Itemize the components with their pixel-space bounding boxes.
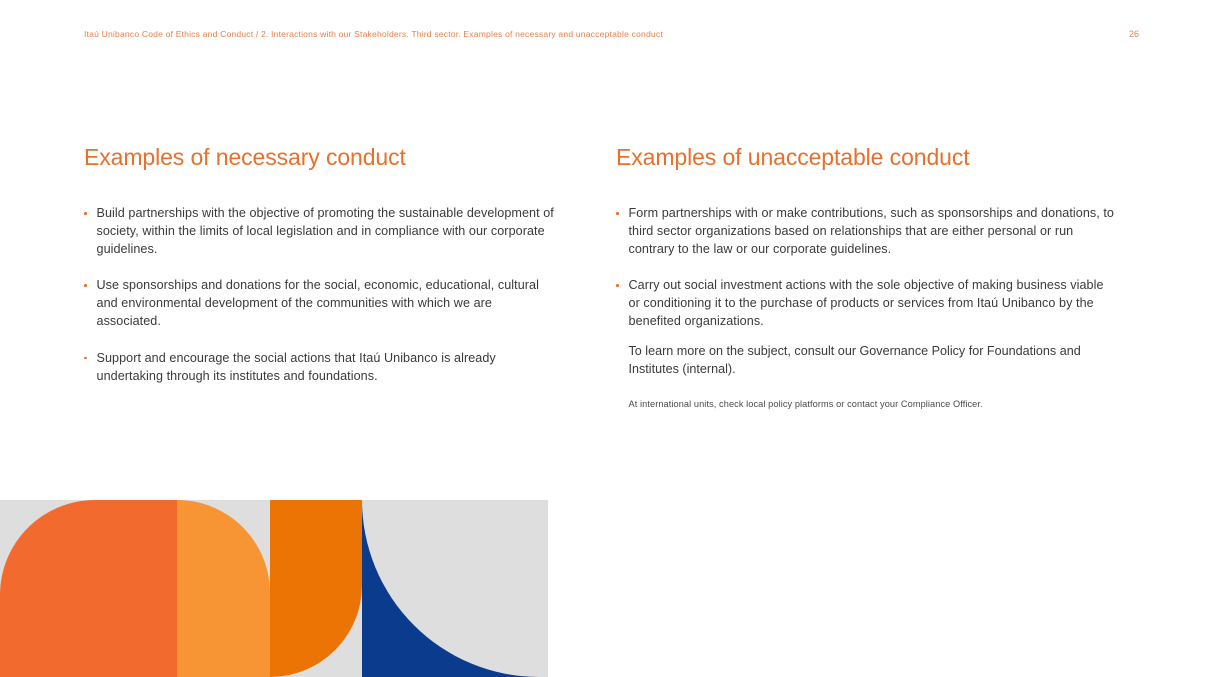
bullet-dot-icon [616, 212, 619, 215]
footnote: At international units, check local poli… [616, 397, 1116, 411]
list-item-text: Build partnerships with the objective of… [97, 206, 554, 256]
document-page: Itaú Unibanco Code of Ethics and Conduct… [0, 0, 1210, 677]
list-item: Support and encourage the social actions… [84, 350, 554, 386]
reference-note: To learn more on the subject, consult ou… [616, 343, 1116, 379]
bullet-dot-icon [84, 357, 87, 360]
brand-graphic [0, 500, 548, 677]
bullet-list-unacceptable: Form partnerships with or make contribut… [616, 205, 1116, 411]
brand-band-dark-orange [270, 500, 362, 677]
brand-band-navy [362, 500, 548, 677]
bullet-dot-icon [616, 284, 619, 287]
list-item: Use sponsorships and donations for the s… [84, 277, 554, 330]
column-title-unacceptable: Examples of unacceptable conduct [616, 143, 1116, 171]
column-necessary-conduct: Examples of necessary conduct Build part… [84, 143, 554, 404]
list-item-text: Carry out social investment actions with… [629, 278, 1104, 328]
bullet-dot-icon [84, 212, 87, 215]
column-unacceptable-conduct: Examples of unacceptable conduct Form pa… [616, 143, 1116, 411]
page-number: 26 [1129, 28, 1139, 41]
list-item-text: Support and encourage the social actions… [97, 351, 496, 383]
brand-band-light-orange [177, 500, 270, 677]
list-item: Carry out social investment actions with… [616, 277, 1116, 330]
list-item-text: Use sponsorships and donations for the s… [97, 278, 539, 328]
bullet-dot-icon [84, 284, 87, 287]
brand-band-orange [0, 500, 177, 677]
list-item: Form partnerships with or make contribut… [616, 205, 1116, 258]
breadcrumb: Itaú Unibanco Code of Ethics and Conduct… [84, 28, 663, 41]
list-item-text: Form partnerships with or make contribut… [629, 206, 1115, 256]
page-header: Itaú Unibanco Code of Ethics and Conduct… [84, 28, 1134, 41]
column-title-necessary: Examples of necessary conduct [84, 143, 554, 171]
list-item: Build partnerships with the objective of… [84, 205, 554, 258]
bullet-list-necessary: Build partnerships with the objective of… [84, 205, 554, 385]
